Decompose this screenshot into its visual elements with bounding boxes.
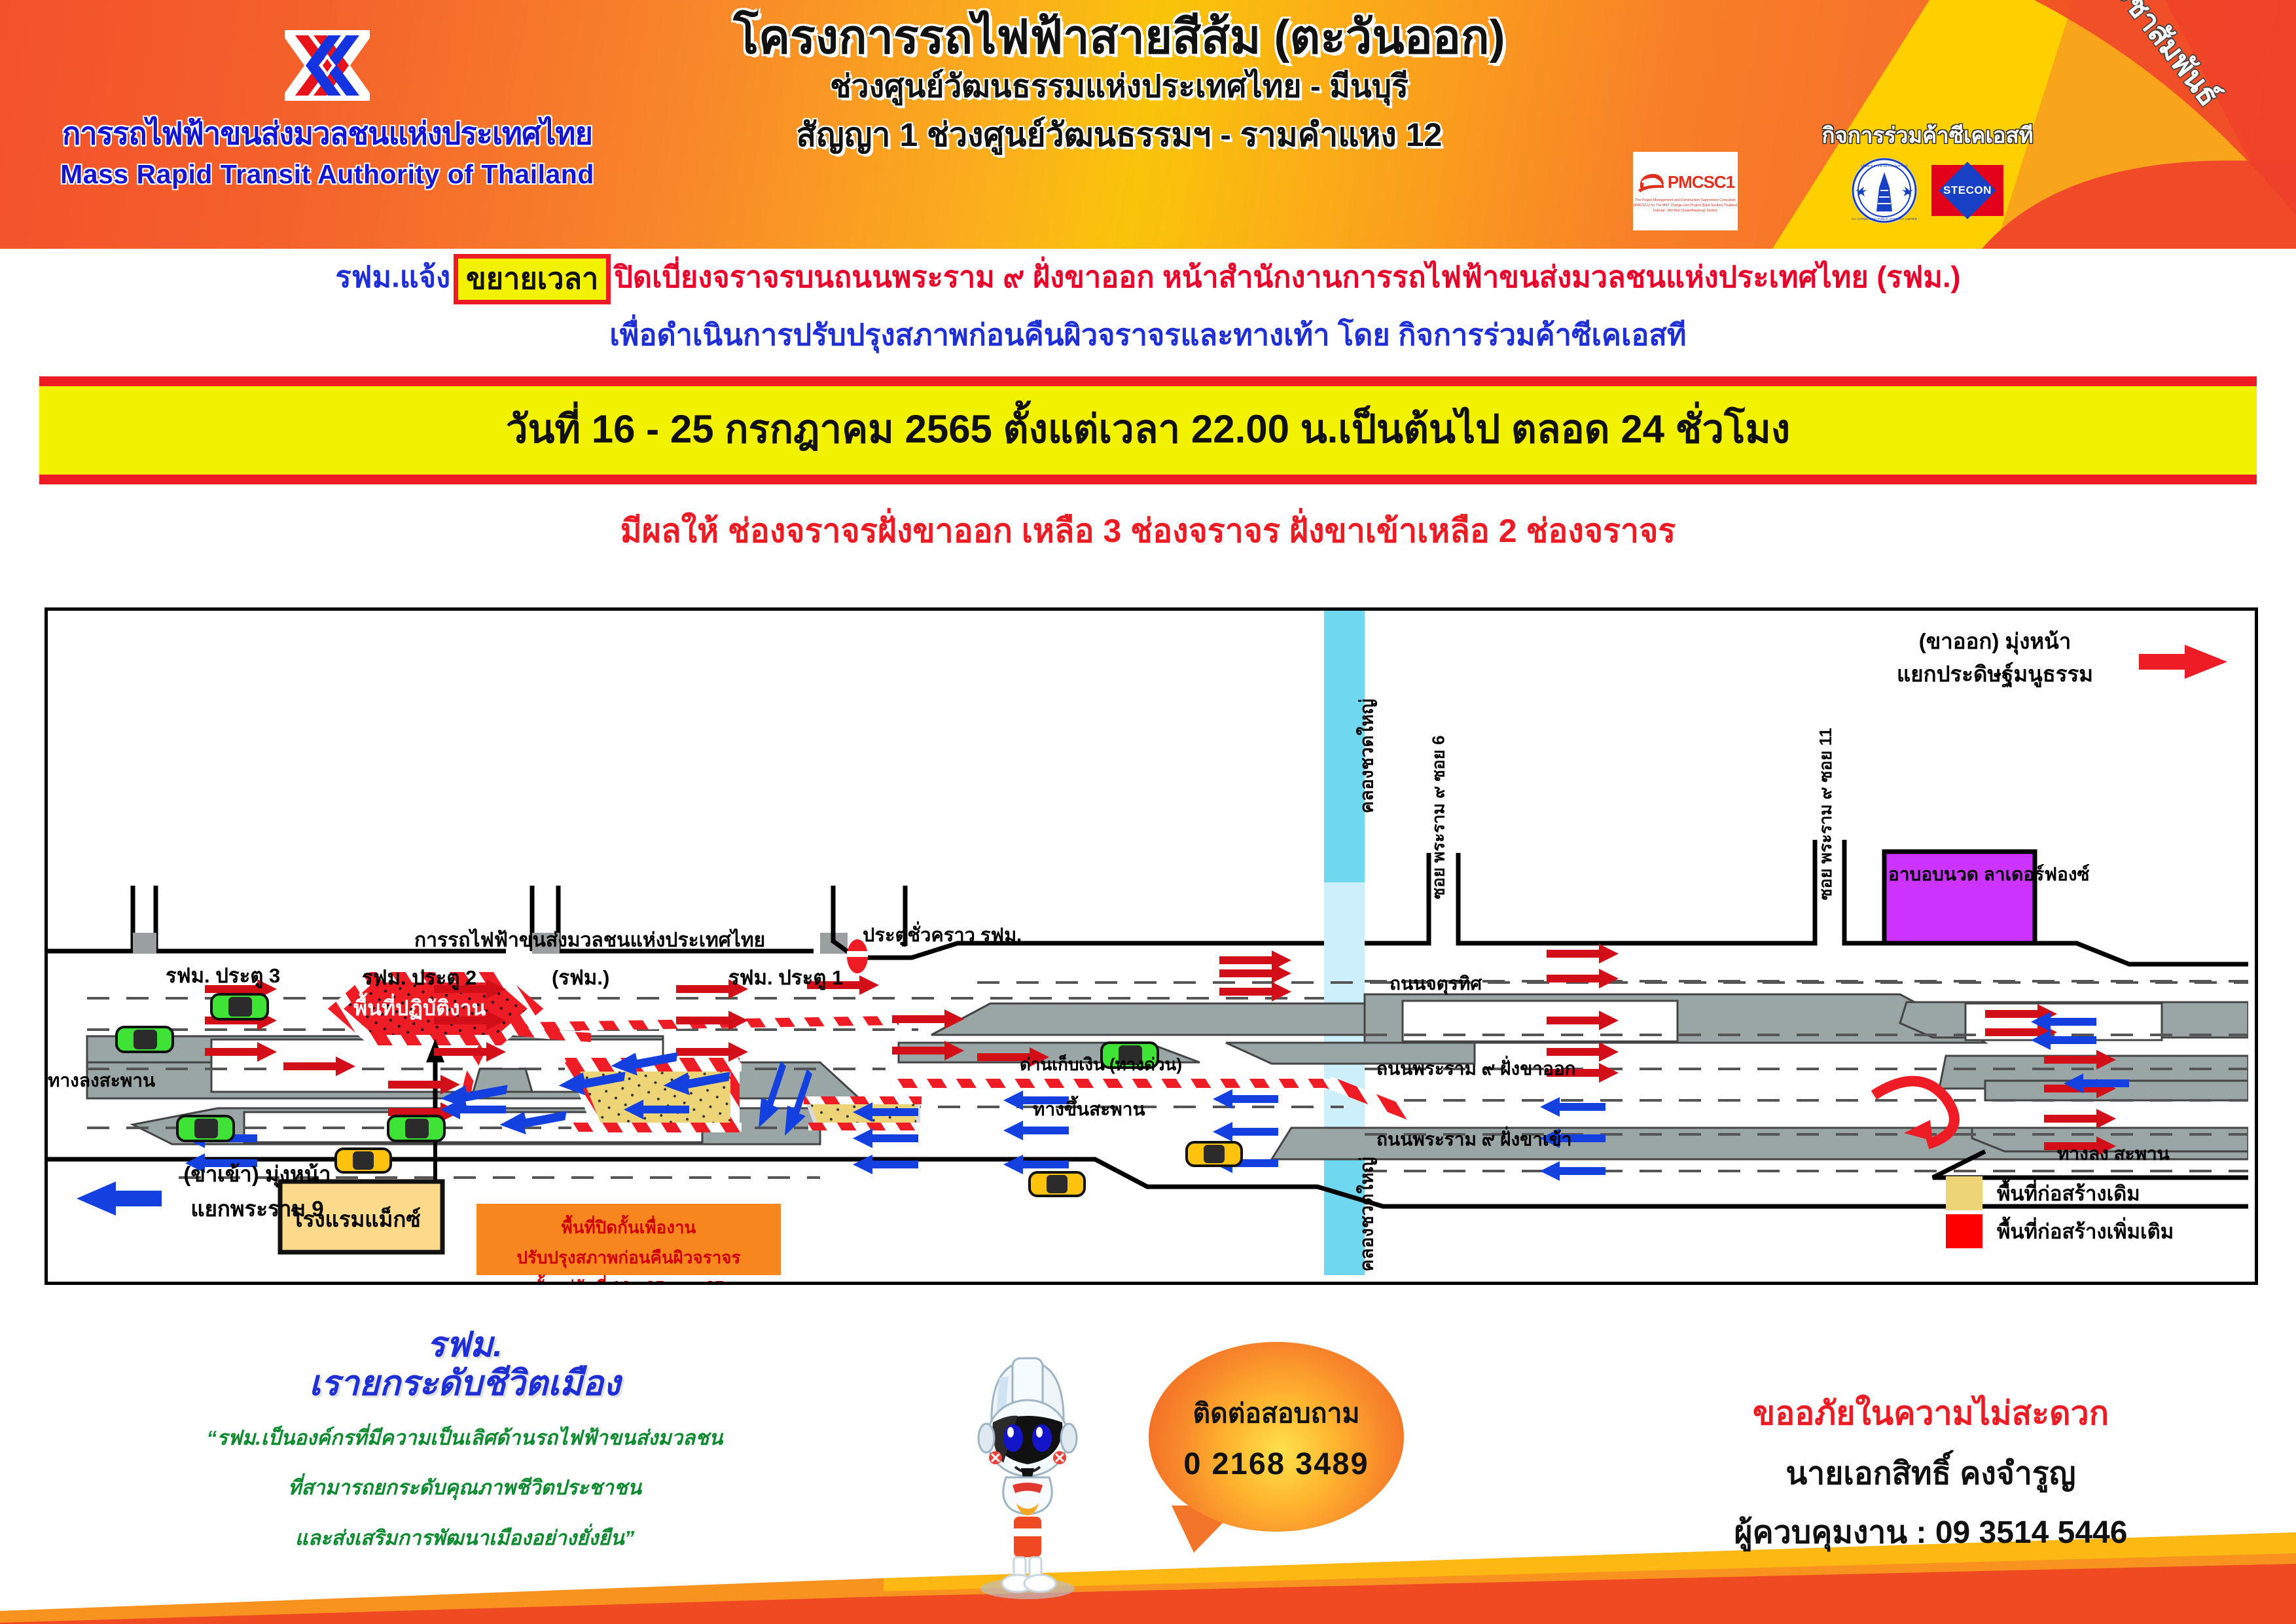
map-label-gate3: รฟม. ประตู 3: [166, 959, 280, 992]
svg-text:บริษัท ช.การช่างจำกัด (มหาชน): บริษัท ช.การช่างจำกัด (มหาชน): [1861, 164, 1908, 168]
extend-time-badge: ขยายเวลา: [454, 254, 611, 304]
legend-swatch-additional: [1946, 1214, 1982, 1248]
map-direction-inbound: (ขาเข้า) มุ่งหน้า แยกพระราม 9: [152, 1157, 362, 1227]
vision-line-1: “รฟม.เป็นองค์กรที่มีความเป็นเลิศด้านรถไฟ…: [118, 1423, 812, 1454]
inbound-arrow-icon: [77, 1180, 162, 1217]
contact-phone: 0 2168 3489: [1183, 1445, 1369, 1481]
map-label-gate2-paren: (รฟม.): [552, 961, 609, 994]
mrta-emblem-icon: [272, 26, 383, 105]
announcement-section: รฟม.แจ้งขยายเวลาปิดเบี่ยงจราจรบนถนนพระรา…: [0, 254, 2296, 557]
contact-label: ติดต่อสอบถาม: [1193, 1392, 1359, 1435]
map-label-canal-top: คลองชวดใหญ่: [1353, 698, 1382, 813]
project-title-main: โครงการรถไฟฟ้าสายสีส้ม (ตะวันออก): [655, 12, 1584, 63]
map-label-mrta-building: การรถไฟฟ้าขนส่งมวลชนแห่งประเทศไทย: [414, 925, 765, 956]
map-label-road-rama9-in: ถนนพระราม ๙ ฝั่งขาเข้า: [1376, 1125, 1571, 1154]
map-legend: พื้นที่ก่อสร้างเดิม พื้นที่ก่อสร้างเพิ่ม…: [1946, 1176, 2174, 1248]
map-label-toll: ด่านเก็บเงิน (ทางด่วน): [1020, 1051, 1182, 1078]
announcement-prefix: รฟม.แจ้ง: [336, 260, 451, 293]
pmcsc-logo: PMCSC1 The Project Management and Constr…: [1633, 152, 1738, 230]
project-title-sub2: สัญญา 1 ช่วงศูนย์วัฒนธรรมฯ - รามคำแหง 12: [655, 115, 1584, 156]
slogan-line-1: รฟม.: [118, 1326, 812, 1364]
contact-block: ขออภัยในความไม่สะดวก นายเอกสิทธิ์ คงจำรู…: [1590, 1388, 2271, 1557]
massage-shop-text: อาบอบนวด ลาเดอร์ฟองซ์: [1888, 864, 2090, 884]
mrta-slogan-block: รฟม. เรายกระดับชีวิตเมือง “รฟม.เป็นองค์ก…: [118, 1326, 812, 1553]
project-title-block: โครงการรถไฟฟ้าสายสีส้ม (ตะวันออก) ช่วงศู…: [655, 12, 1584, 156]
direction-inbound-line2: แยกพระราม 9: [152, 1192, 362, 1227]
map-label-temp-gate: ประตูชั่วคราว รฟม.: [863, 920, 1022, 950]
traffic-diversion-map: รฟม. ประตู 3 การรถไฟฟ้าขนส่งมวลชนแห่งประ…: [45, 607, 2258, 1285]
legend-label-existing: พื้นที่ก่อสร้างเดิม: [1997, 1177, 2140, 1210]
vision-line-3: และส่งเสริมการพัฒนาเมืองอย่างยั่งยืน”: [118, 1523, 812, 1554]
direction-inbound-line1: (ขาเข้า) มุ่งหน้า: [152, 1157, 362, 1192]
date-banner: วันที่ 16 - 25 กรกฎาคม 2565 ตั้งแต่เวลา …: [39, 376, 2257, 484]
map-label-gate2: รฟม. ประตู 2: [362, 961, 476, 994]
announcement-line1-rest: ปิดเบี่ยงจราจรบนถนนพระราม ๙ ฝั่งขาออก หน…: [614, 260, 1960, 293]
ch-logo-text: CH. KARNCHANG PUBLIC COMPANY LIMITED: [1852, 217, 1917, 221]
legend-swatch-existing: [1946, 1176, 1982, 1210]
legend-label-additional: พื้นที่ก่อสร้างเพิ่มเติม: [1997, 1215, 2174, 1248]
map-label-road-chaturathit: ถนนจตุรทิศ: [1390, 969, 1482, 998]
stecon-logo: STECON: [1931, 165, 2003, 216]
callout-line-2: ปรับปรุงสภาพก่อนคืนผิวจราจร: [480, 1243, 778, 1273]
vision-line-2: ที่สามารถยกระดับคุณภาพชีวิตประชาชน: [118, 1473, 812, 1504]
map-label-soi6: ซอย พระราม ๙ ซอย 6: [1426, 735, 1452, 899]
apology-text: ขออภัยในความไม่สะดวก: [1590, 1388, 2271, 1439]
map-label-work-zone-badge: พื้นที่ปฏิบัติงาน: [353, 992, 486, 1025]
map-callout-box-text: พื้นที่ปิดกั้นเพื่องาน ปรับปรุงสภาพก่อนค…: [480, 1213, 778, 1285]
map-label-gate1: รฟม. ประตู 1: [728, 961, 843, 994]
org-name-english: Mass Rapid Transit Authority of Thailand: [39, 159, 615, 190]
map-label-soi11: ซอย พระราม ๙ ซอย 11: [1812, 728, 1839, 900]
announcement-line-2: เพื่อดำเนินการปรับปรุงสภาพก่อนคืนผิวจราจ…: [0, 311, 2296, 358]
slogan-line-2: เรายกระดับชีวิตเมือง: [118, 1364, 812, 1403]
stecon-label: STECON: [1943, 184, 1992, 197]
map-label-bridge-down: ทางลง สะพาน: [2057, 1140, 2170, 1168]
date-banner-text: วันที่ 16 - 25 กรกฎาคม 2565 ตั้งแต่เวลา …: [506, 407, 1790, 451]
ch-karnchang-logo: บริษัท ช.การช่างจำกัด (มหาชน) CH. KARNCH…: [1852, 158, 1917, 223]
mrta-mascot-icon: [952, 1339, 1103, 1600]
supervisor-phone: ผู้ควบคุมงาน : 09 3514 5446: [1590, 1507, 2271, 1557]
pmcsc-label: PMCSC1: [1668, 172, 1734, 192]
outbound-arrow-icon: [2139, 642, 2231, 681]
joint-venture-title: กิจการร่วมค้าซีเคเอสที: [1787, 118, 2068, 153]
direction-outbound-line2: แยกประดิษฐ์มนูธรรม: [1851, 658, 2139, 691]
mrta-logo-block: การรถไฟฟ้าขนส่งมวลชนแห่งประเทศไทย Mass R…: [39, 26, 615, 190]
map-graphic: [48, 611, 2248, 1275]
project-title-sub1: ช่วงศูนย์วัฒนธรรมแห่งประเทศไทย - มีนบุรี: [655, 67, 1584, 107]
contact-speech-bubble: ติดต่อสอบถาม 0 2168 3489: [1149, 1342, 1404, 1532]
announcement-line-3: มีผลให้ ช่องจราจรฝั่งขาออก เหลือ 3 ช่องจ…: [0, 505, 2296, 557]
callout-line-1: พื้นที่ปิดกั้นเพื่องาน: [480, 1213, 778, 1243]
joint-venture-block: กิจการร่วมค้าซีเคเอสที บริษัท ช.การช่างจ…: [1787, 118, 2068, 223]
map-label-bridge-left: ทางลงสะพาน: [48, 1066, 155, 1095]
map-direction-outbound: (ขาออก) มุ่งหน้า แยกประดิษฐ์มนูธรรม: [1851, 625, 2139, 690]
map-label-bridge-up: ทางขึ้นสะพาน: [1033, 1095, 1145, 1124]
map-label-canal-bottom: คลองชวดใหญ่: [1353, 1157, 1382, 1271]
supervisor-name: นายเอกสิทธิ์ คงจำรูญ: [1590, 1449, 2271, 1498]
direction-outbound-line1: (ขาออก) มุ่งหน้า: [1851, 625, 2139, 658]
map-label-massage-shop: อาบอบนวด ลาเดอร์ฟองซ์: [1888, 863, 2032, 886]
pmcsc-helmet-icon: [1636, 168, 1666, 196]
map-label-road-rama9-out: ถนนพระราม ๙ ฝั่งขาออก: [1376, 1055, 1576, 1083]
page-header: การรถไฟฟ้าขนส่งมวลชนแห่งประเทศไทย Mass R…: [0, 0, 2296, 249]
announcement-line-1: รฟม.แจ้งขยายเวลาปิดเบี่ยงจราจรบนถนนพระรา…: [0, 254, 2296, 304]
org-name-thai: การรถไฟฟ้าขนส่งมวลชนแห่งประเทศไทย: [39, 109, 615, 158]
pmcsc-caption: The Project Management and Construction …: [1633, 198, 1738, 213]
